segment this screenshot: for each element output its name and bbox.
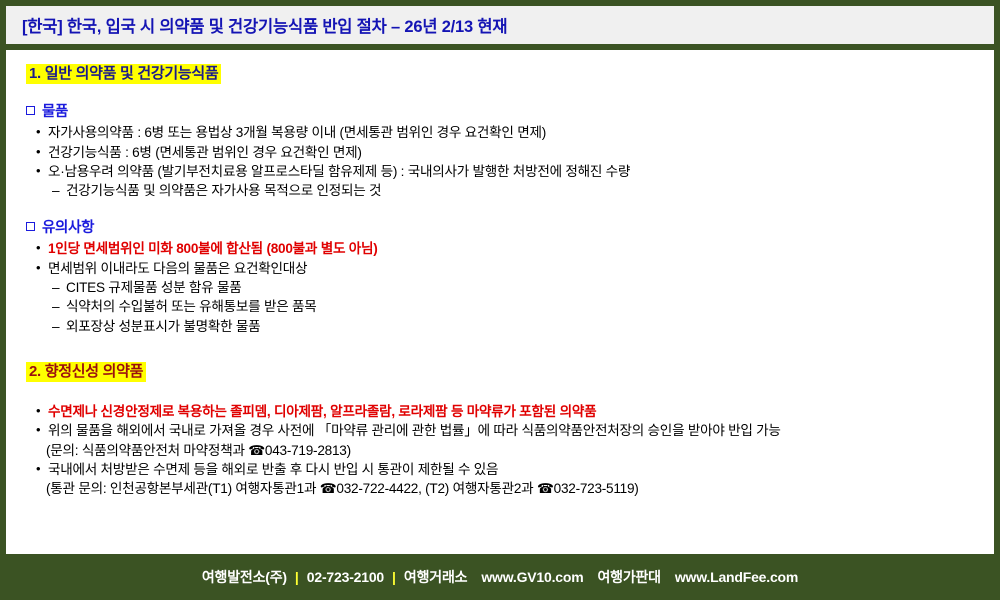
footer-separator: | — [392, 569, 396, 585]
document-title-bar: [한국] 한국, 입국 시 의약품 및 건강기능식품 반입 절차 – 26년 2… — [6, 6, 994, 44]
list-item: 식약처의 수입불허 또는 유해통보를 받은 품목 — [20, 297, 980, 316]
list-item: 면세범위 이내라도 다음의 물품은 요건확인대상 — [20, 259, 980, 278]
section-1: 1. 일반 의약품 및 건강기능식품 — [26, 64, 980, 84]
square-bullet-icon — [26, 106, 35, 115]
group-notes-header: 유의사항 — [26, 216, 980, 237]
footer-site2-label: 여행가판대 — [597, 567, 660, 587]
footer-bar: 여행발전소(주) | 02-723-2100 | 여행거래소 www.GV10.… — [6, 554, 994, 600]
group-goods-label: 물품 — [42, 100, 68, 121]
list-item-alert: 수면제나 신경안정제로 복용하는 졸피뎀, 디아제팜, 알프라졸람, 로라제팜 … — [20, 402, 980, 421]
group-notes-label: 유의사항 — [42, 216, 94, 237]
footer-separator: | — [295, 569, 299, 585]
group-psychotropic-list: 수면제나 신경안정제로 복용하는 졸피뎀, 디아제팜, 알프라졸람, 로라제팜 … — [20, 402, 980, 498]
section-1-heading: 1. 일반 의약품 및 건강기능식품 — [26, 64, 221, 84]
footer-site1-label: 여행거래소 — [404, 567, 467, 587]
list-item: 위의 물품을 해외에서 국내로 가져올 경우 사전에 「마약류 관리에 관한 법… — [20, 421, 980, 440]
square-bullet-icon — [26, 222, 35, 231]
footer-site2-url[interactable]: www.LandFee.com — [675, 569, 798, 585]
list-item: 자가사용의약품 : 6병 또는 용법상 3개월 복용량 이내 (면세통관 범위인… — [20, 123, 980, 142]
section-2-heading: 2. 향정신성 의약품 — [26, 362, 146, 382]
list-item-alert: 1인당 면세범위인 미화 800불에 합산됨 (800불과 별도 아님) — [20, 239, 980, 258]
footer-phone: 02-723-2100 — [307, 569, 384, 585]
document-body: 1. 일반 의약품 및 건강기능식품 물품 자가사용의약품 : 6병 또는 용법… — [6, 50, 994, 554]
group-goods-list: 자가사용의약품 : 6병 또는 용법상 3개월 복용량 이내 (면세통관 범위인… — [20, 123, 980, 200]
list-item: 건강기능식품 : 6병 (면세통관 범위인 경우 요건확인 면제) — [20, 143, 980, 162]
list-item: 건강기능식품 및 의약품은 자가사용 목적으로 인정되는 것 — [20, 181, 980, 200]
list-item: 국내에서 처방받은 수면제 등을 해외로 반출 후 다시 반입 시 통관이 제한… — [20, 460, 980, 479]
section-2: 2. 향정신성 의약품 — [26, 362, 980, 382]
page-title: [한국] 한국, 입국 시 의약품 및 건강기능식품 반입 절차 – 26년 2… — [22, 13, 507, 37]
list-item: 오·남용우려 의약품 (발기부전치료용 알프로스타딜 함유제제 등) : 국내의… — [20, 162, 980, 181]
list-item-note: (통관 문의: 인천공항본부세관(T1) 여행자통관1과 ☎032-722-44… — [20, 479, 980, 498]
list-item: 외포장상 성분표시가 불명확한 물품 — [20, 317, 980, 336]
section-spacer — [20, 336, 980, 362]
section-2-spacer — [20, 382, 980, 402]
footer-site1-url[interactable]: www.GV10.com — [481, 569, 583, 585]
list-item-note: (문의: 식품의약품안전처 마약정책과 ☎043-719-2813) — [20, 441, 980, 460]
document-page: [한국] 한국, 입국 시 의약품 및 건강기능식품 반입 절차 – 26년 2… — [0, 0, 1000, 600]
group-goods-header: 물품 — [26, 100, 980, 121]
list-item: CITES 규제물품 성분 함유 물품 — [20, 278, 980, 297]
group-notes-list: 1인당 면세범위인 미화 800불에 합산됨 (800불과 별도 아님) 면세범… — [20, 239, 980, 335]
footer-company: 여행발전소(주) — [202, 567, 287, 587]
